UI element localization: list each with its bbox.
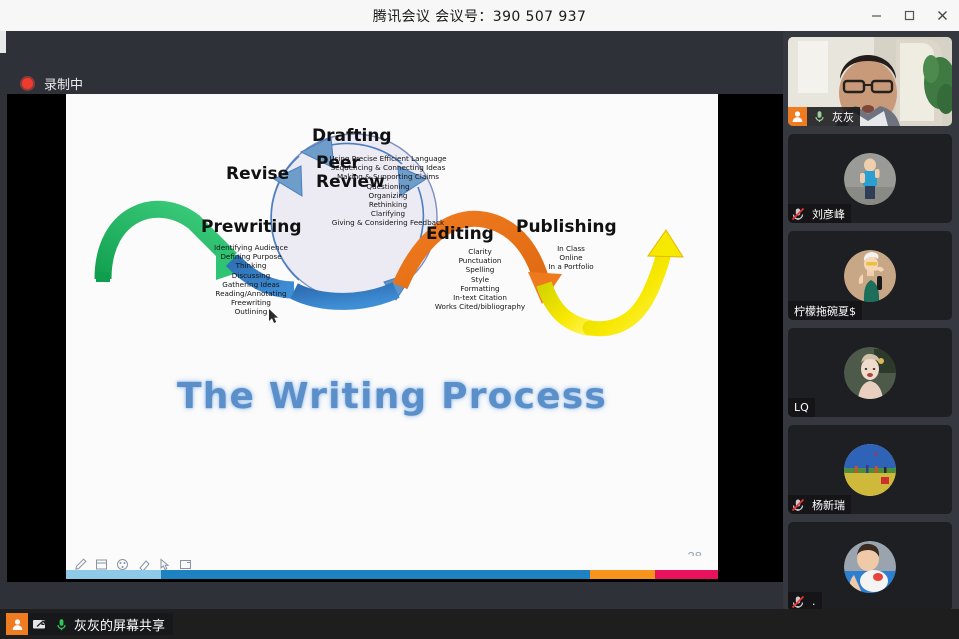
- participant-namebar-3: LQ: [788, 398, 815, 417]
- slide-title: The Writing Process: [66, 376, 718, 417]
- recording-indicator: 录制中: [20, 74, 83, 93]
- meeting-window: 腾讯会议 会议号：390 507 937 录制中: [0, 0, 959, 639]
- participant-namebar-5: .: [788, 592, 822, 609]
- window-title-bar: 腾讯会议 会议号：390 507 937: [0, 0, 959, 32]
- screen-share-icon: [28, 613, 50, 635]
- participant-tile-2[interactable]: 柠檬拖碗夏$: [788, 231, 952, 320]
- pen-icon[interactable]: [74, 558, 87, 571]
- progress-segment-orange: [590, 570, 655, 579]
- participant-name-1: 刘彦峰: [812, 206, 845, 222]
- pointer-icon[interactable]: [158, 558, 171, 571]
- note-icon[interactable]: [95, 558, 108, 571]
- recording-dot-icon: [20, 76, 35, 91]
- slide-progress-bar[interactable]: [66, 570, 718, 579]
- mic-icon: [50, 613, 72, 635]
- close-button[interactable]: [926, 0, 959, 31]
- stage-list-prewriting: Identifying Audience Defining Purpose Th…: [186, 243, 316, 317]
- person-icon: [6, 613, 28, 635]
- screen-share-label: 灰灰的屏幕共享: [72, 615, 173, 634]
- participant-tile-5[interactable]: .: [788, 522, 952, 609]
- recording-label: 录制中: [44, 74, 83, 93]
- participant-name-0: 灰灰: [832, 109, 854, 125]
- participant-namebar-4: 杨新瑞: [788, 495, 851, 514]
- participant-namebar-1: 刘彦峰: [788, 204, 851, 223]
- mic-muted-icon: [788, 495, 808, 514]
- maximize-button[interactable]: [893, 0, 926, 31]
- stage-label-prewriting: Prewriting: [201, 217, 302, 237]
- stage-list-drafting: Using Precise Efficient Language Sequenc…: [288, 154, 488, 228]
- presentation-slide[interactable]: Drafting Revise Peer Review Prewriting E…: [66, 94, 718, 564]
- participant-avatar-4: [844, 444, 896, 496]
- participant-tile-3[interactable]: LQ: [788, 328, 952, 417]
- screen-icon[interactable]: [179, 558, 192, 571]
- person-icon: [788, 107, 807, 126]
- stage-label-drafting: Drafting: [312, 126, 392, 146]
- stage-list-publishing: In Class Online In a Portfolio: [506, 244, 636, 272]
- screen-share-status[interactable]: 灰灰的屏幕共享: [6, 613, 173, 635]
- participant-avatar-1: [844, 153, 896, 205]
- eraser-icon[interactable]: [137, 558, 150, 571]
- participant-avatar-5: [844, 541, 896, 593]
- left-edge-strip: [0, 31, 6, 53]
- participant-namebar-2: 柠檬拖碗夏$: [788, 301, 862, 320]
- participant-name-4: 杨新瑞: [812, 497, 845, 513]
- minimize-button[interactable]: [860, 0, 893, 31]
- participant-avatar-2: [844, 250, 896, 302]
- participant-name-5: .: [812, 595, 816, 608]
- mic-muted-icon: [788, 592, 808, 609]
- mouse-cursor-icon: [269, 309, 281, 330]
- stage-label-publishing: Publishing: [516, 217, 617, 237]
- progress-segment-blue: [161, 570, 590, 579]
- progress-segment-crimson: [655, 570, 718, 579]
- participant-avatar-3: [844, 347, 896, 399]
- palette-icon[interactable]: [116, 558, 129, 571]
- participant-namebar-0: 灰灰: [788, 107, 860, 126]
- participant-name-3: LQ: [788, 401, 809, 414]
- mic-muted-icon: [788, 204, 808, 223]
- participant-rail[interactable]: 灰灰 刘彦峰: [783, 31, 959, 609]
- participant-name-2: 柠檬拖碗夏$: [788, 303, 856, 319]
- window-title: 腾讯会议 会议号：390 507 937: [373, 6, 587, 26]
- participant-tile-0[interactable]: 灰灰: [788, 37, 952, 126]
- participant-tile-4[interactable]: 杨新瑞: [788, 425, 952, 514]
- window-controls: [860, 0, 959, 31]
- mic-icon: [811, 107, 828, 126]
- participant-tile-1[interactable]: 刘彦峰: [788, 134, 952, 223]
- stage-label-revise: Revise: [226, 164, 289, 184]
- progress-segment-light-blue: [66, 570, 161, 579]
- bottom-taskbar: 灰灰的屏幕共享: [0, 609, 959, 639]
